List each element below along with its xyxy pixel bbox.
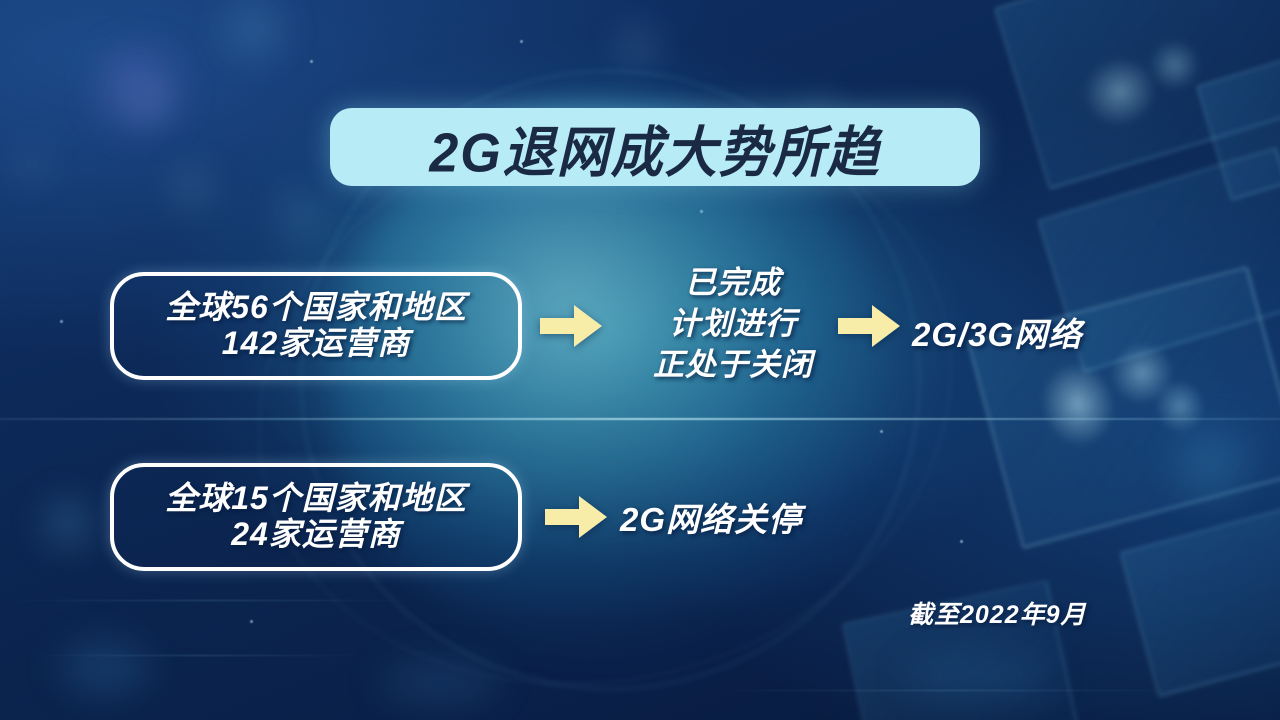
bokeh-dot-icon bbox=[140, 95, 162, 117]
bokeh-dot-icon bbox=[620, 30, 654, 64]
infographic-canvas: 2G退网成大势所趋 全球56个国家和地区 142家运营商 已完成 计划进行 正处… bbox=[0, 0, 1280, 720]
stat-box-row2-line1: 全球15个国家和地区 bbox=[165, 481, 467, 517]
arrow-right-icon bbox=[540, 303, 602, 349]
star-dot-icon bbox=[700, 210, 703, 213]
bokeh-dot-icon bbox=[45, 500, 91, 546]
bokeh-dot-icon bbox=[380, 660, 500, 704]
stat-box-row1-line1: 全球56个国家和地区 bbox=[165, 290, 467, 326]
page-title: 2G退网成大势所趋 bbox=[429, 107, 880, 187]
result-label-row1: 2G/3G网络 bbox=[912, 308, 1082, 356]
bokeh-dot-icon bbox=[18, 150, 46, 178]
bokeh-dot-icon bbox=[225, 0, 283, 58]
section-divider bbox=[0, 418, 1280, 420]
stat-box-row2-line2: 24家运营商 bbox=[231, 517, 401, 553]
bokeh-dot-icon bbox=[1175, 430, 1245, 500]
light-streak-icon bbox=[700, 690, 1200, 691]
footnote-date: 截至2022年9月 bbox=[908, 595, 1087, 631]
world-map-blob-icon bbox=[1064, 20, 1235, 155]
page-title-badge: 2G退网成大势所趋 bbox=[330, 108, 980, 186]
stat-box-row2: 全球15个国家和地区 24家运营商 bbox=[110, 463, 522, 571]
arrow-right-icon bbox=[545, 494, 607, 540]
star-dot-icon bbox=[960, 540, 963, 543]
stat-box-row1-line2: 142家运营商 bbox=[222, 326, 410, 362]
star-dot-icon bbox=[60, 320, 63, 323]
star-dot-icon bbox=[310, 60, 313, 63]
star-dot-icon bbox=[880, 430, 883, 433]
bokeh-dot-icon bbox=[100, 50, 178, 128]
status-line-2: 计划进行 bbox=[618, 303, 848, 344]
light-streak-icon bbox=[0, 600, 420, 601]
status-list-row1: 已完成 计划进行 正处于关闭 bbox=[618, 262, 848, 386]
result-label-row2: 2G网络关停 bbox=[620, 493, 802, 541]
stat-box-row1: 全球56个国家和地区 142家运营商 bbox=[110, 272, 522, 380]
bokeh-dot-icon bbox=[905, 650, 1055, 702]
star-dot-icon bbox=[250, 620, 253, 623]
status-line-1: 已完成 bbox=[618, 262, 848, 303]
tech-panel-icon bbox=[1196, 39, 1280, 201]
arrow-right-icon bbox=[838, 303, 900, 349]
tech-panel-icon bbox=[1120, 493, 1280, 697]
star-dot-icon bbox=[520, 40, 523, 43]
bokeh-dot-icon bbox=[175, 170, 209, 204]
tech-panel-icon bbox=[994, 0, 1280, 190]
light-streak-icon bbox=[20, 655, 380, 656]
bokeh-dot-icon bbox=[60, 640, 150, 696]
bokeh-dot-icon bbox=[280, 195, 320, 235]
status-line-3: 正处于关闭 bbox=[618, 344, 848, 385]
